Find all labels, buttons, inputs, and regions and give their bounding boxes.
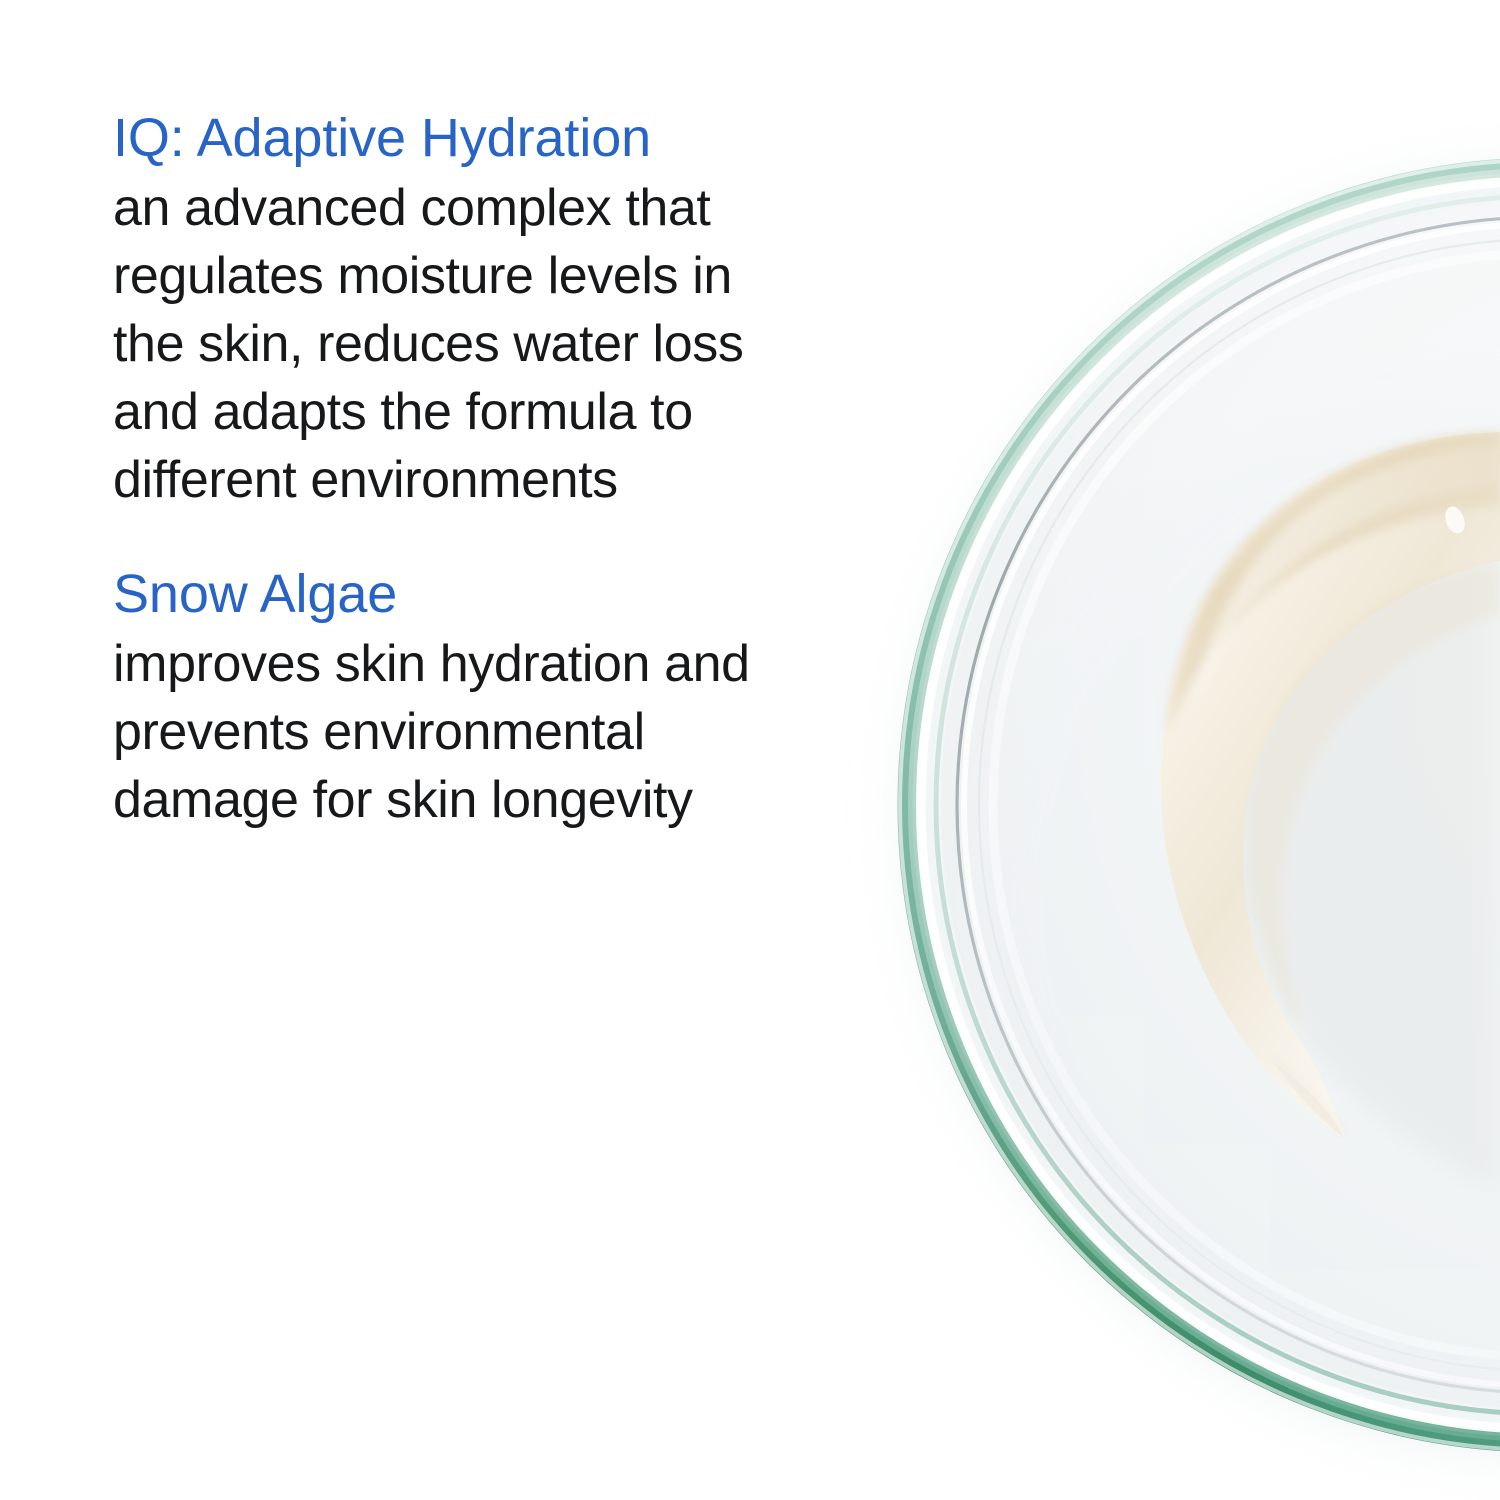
description-line: different environments	[113, 446, 903, 514]
dish-outer-green-edge-soft	[913, 173, 1500, 1437]
dish-outer-green-edge	[905, 165, 1500, 1445]
product-ingredient-callout: IQ: Adaptive Hydration an advanced compl…	[0, 0, 1500, 1500]
dish-wall-shade	[929, 189, 1500, 1421]
ingredient-block-snow-algae: Snow Algae improves skin hydration and p…	[113, 560, 903, 834]
dish-outer-bright-seam	[900, 160, 1500, 1450]
cream-swatch	[1161, 432, 1500, 1190]
ingredient-name-heading: Snow Algae	[113, 560, 903, 628]
description-line: regulates moisture levels in	[113, 242, 903, 310]
dish-rim-gray-line	[957, 217, 1500, 1393]
cream-contact-shadow	[1178, 448, 1500, 1190]
dish-wall-highlight	[922, 182, 1500, 1428]
description-line: the skin, reduces water loss	[113, 310, 903, 378]
cream-tail-crease	[1274, 1056, 1344, 1134]
ingredient-block-iq-adaptive-hydration: IQ: Adaptive Hydration an advanced compl…	[113, 104, 903, 514]
dish-floor-vignette	[980, 380, 1500, 1420]
dish-rim-inner-highlight	[964, 224, 1500, 1386]
dish-floor-edge-line	[979, 239, 1500, 1371]
description-line: improves skin hydration and	[113, 630, 903, 698]
description-line: damage for skin longevity	[113, 766, 903, 834]
ingredient-description: improves skin hydration and prevents env…	[113, 630, 903, 834]
description-line: prevents environmental	[113, 698, 903, 766]
cream-top-shading	[1166, 432, 1500, 738]
cream-sheen	[1196, 444, 1500, 702]
dish-interior	[941, 201, 1500, 1409]
ingredient-name-heading: IQ: Adaptive Hydration	[113, 104, 903, 172]
dish-floor-highlight	[993, 253, 1500, 1357]
ingredient-description: an advanced complex that regulates moist…	[113, 174, 903, 514]
description-line: an advanced complex that	[113, 174, 903, 242]
cream-body	[1161, 432, 1500, 1139]
cream-droplet-highlight	[1442, 504, 1468, 536]
dish-drop-shadow	[904, 164, 1500, 1460]
cream-tail	[1272, 1060, 1345, 1139]
cream-inner-shading	[1247, 565, 1500, 1028]
description-line: and adapts the formula to	[113, 378, 903, 446]
dish-inner-green-reflection	[936, 196, 1500, 1414]
ingredient-copy-column: IQ: Adaptive Hydration an advanced compl…	[113, 104, 903, 834]
